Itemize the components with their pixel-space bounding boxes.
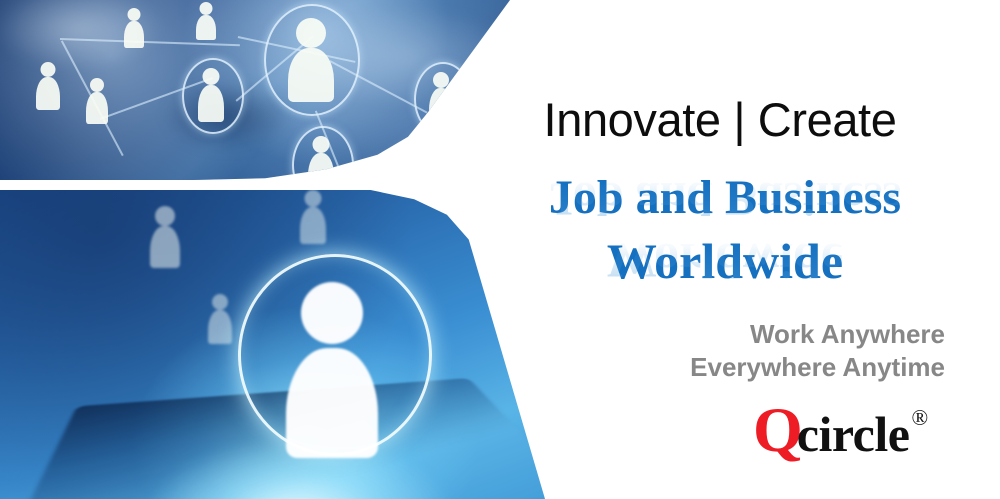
avatar-head	[155, 206, 175, 226]
tagline-line-2: Everywhere Anytime	[690, 351, 945, 384]
person-avatar-icon	[196, 2, 216, 40]
network-image-panel	[0, 0, 510, 180]
person-avatar-icon	[150, 206, 180, 268]
person-avatar-icon	[300, 190, 326, 244]
promotional-banner: Innovate | Create Job and Business Job a…	[0, 0, 1000, 499]
person-avatar-icon	[288, 18, 334, 102]
tablet-image-panel	[0, 190, 545, 499]
title-line-2: Worldwide Worldwide	[490, 236, 960, 286]
person-avatar-icon	[86, 78, 108, 124]
registered-trademark-icon: ®	[911, 405, 928, 430]
avatar-body	[286, 348, 378, 458]
avatar-head	[128, 8, 141, 21]
tagline: Work Anywhere Everywhere Anytime	[690, 318, 945, 385]
avatar-head	[433, 72, 449, 88]
avatar-body	[36, 77, 60, 110]
tagline-line-1: Work Anywhere	[690, 318, 945, 351]
avatar-head	[301, 282, 363, 344]
logo-wordmark: circle	[797, 406, 910, 462]
person-avatar-icon	[36, 62, 60, 110]
avatar-head	[203, 68, 220, 85]
avatar-head	[212, 294, 228, 310]
avatar-head	[305, 190, 322, 207]
avatar-body	[288, 48, 334, 102]
person-avatar-icon	[208, 294, 232, 344]
avatar-head	[200, 2, 213, 15]
qcircle-logo[interactable]: Qcircle®	[753, 398, 926, 462]
avatar-body	[198, 85, 224, 122]
headline: Innovate | Create	[500, 96, 940, 143]
person-avatar-icon	[124, 8, 144, 48]
avatar-head	[313, 136, 330, 153]
title-line-1-text: Job and Business	[549, 171, 901, 224]
person-avatar-icon	[308, 136, 334, 180]
avatar-body	[308, 153, 334, 180]
avatar-body	[196, 15, 216, 40]
avatar-body	[86, 92, 108, 124]
title-line-1: Job and Business Job and Business	[490, 174, 960, 222]
avatar-head	[41, 62, 56, 77]
avatar-head	[90, 78, 104, 92]
avatar-body	[300, 207, 326, 244]
person-avatar-icon	[429, 72, 453, 124]
title-line-2-text: Worldwide	[607, 233, 843, 289]
avatar-body	[124, 21, 144, 48]
avatar-head	[296, 18, 326, 48]
avatar-body	[150, 226, 180, 268]
person-avatar-icon	[198, 68, 224, 122]
avatar-body	[429, 88, 453, 124]
hero-person-avatar-icon	[286, 282, 378, 458]
logo-q-mark: Q	[753, 394, 801, 465]
avatar-body	[208, 310, 232, 344]
